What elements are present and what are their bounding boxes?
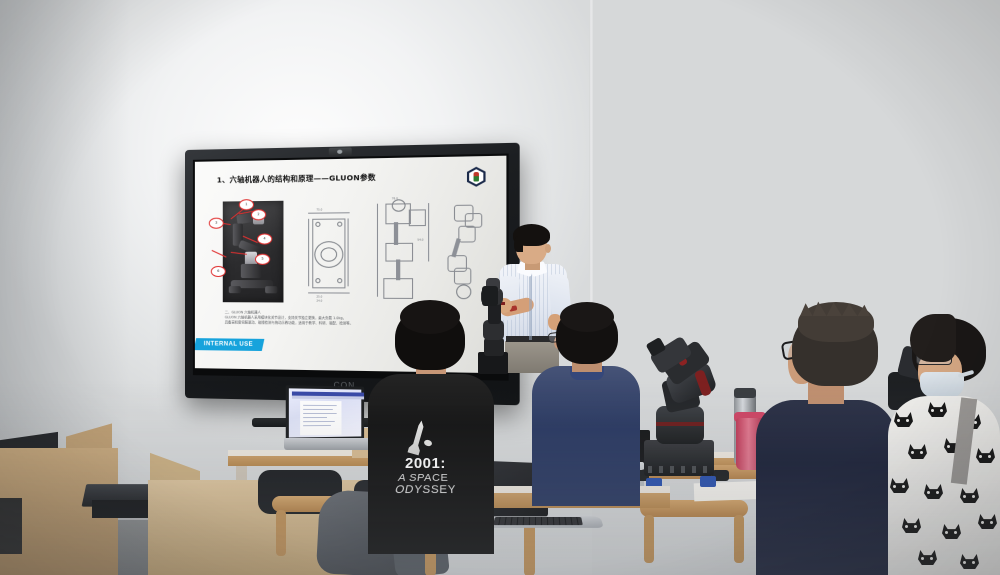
attendee-4-hair-front [910, 314, 956, 362]
status-badge-label: INTERNAL USE [204, 338, 253, 351]
slide-callout: 5 [255, 254, 270, 265]
handheld-robot-grip [482, 286, 498, 306]
attendee-2-hair-top [560, 302, 614, 332]
side-view-cad-drawing: 76.0 54.0 [371, 197, 437, 306]
slide-callout: 3 [209, 218, 224, 229]
attendee-1-hair-top [400, 300, 460, 334]
status-badge: INTERNAL USE [195, 338, 264, 351]
slide-callout: 6 [211, 266, 226, 277]
presenter-ear [545, 244, 551, 253]
presenter-hair-side [514, 236, 523, 252]
handheld-robot-joint-lower [484, 338, 504, 356]
company-logo-icon [467, 167, 486, 187]
slide-title: 1、六轴机器人的结构和原理——GLUON参数 [217, 171, 467, 185]
front-view-cad-drawing: 75.0 25.0 24.0 [304, 208, 358, 303]
interactive-display[interactable]: 1、六轴机器人的结构和原理——GLUON参数 [185, 143, 520, 406]
room-shading [0, 380, 1000, 575]
classroom-photo-scene: 1、六轴机器人的结构和原理——GLUON参数 [0, 0, 1000, 575]
presenter-shirt-placket [529, 266, 532, 340]
slide-callout: 2 [251, 209, 266, 220]
slide-callout: 4 [257, 233, 272, 244]
